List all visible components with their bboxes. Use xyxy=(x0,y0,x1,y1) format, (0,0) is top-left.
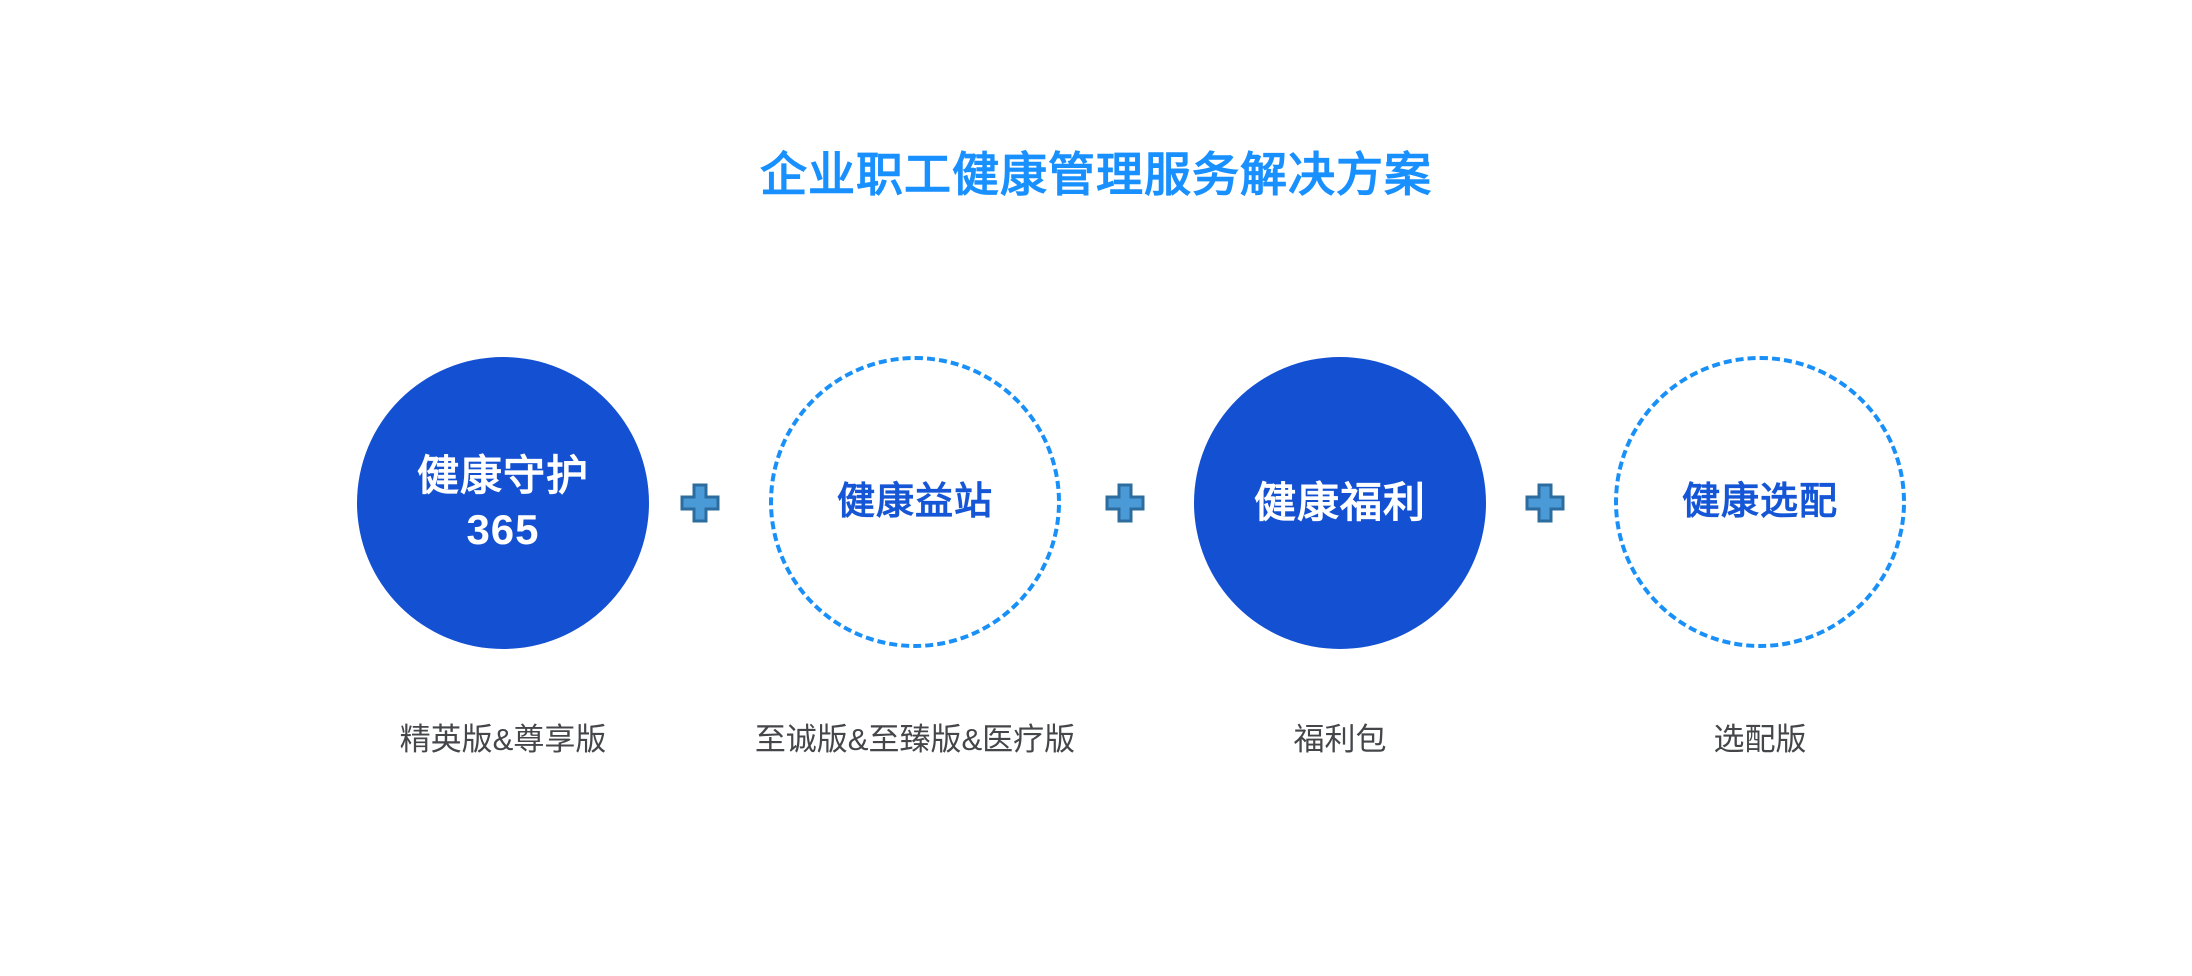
circle-node-label: 健康福利 xyxy=(1254,476,1426,530)
solution-flow-diagram: 健康守护 365 健康益站 健康福利 xyxy=(0,0,2192,976)
caption-health-welfare: 福利包 xyxy=(1140,718,1540,762)
slide-canvas: 企业职工健康管理服务解决方案 健康守护 365 健康益站 健康福利 xyxy=(0,0,2192,976)
caption-health-guard-365: 精英版&尊享版 xyxy=(303,718,703,762)
plus-icon-2 xyxy=(1104,482,1146,524)
circle-node-label: 健康选配 xyxy=(1682,475,1838,529)
circle-node-health-welfare[interactable]: 健康福利 xyxy=(1194,357,1486,649)
plus-icon-1 xyxy=(679,482,721,524)
circle-node-health-guard-365[interactable]: 健康守护 365 xyxy=(357,357,649,649)
caption-health-optional: 选配版 xyxy=(1560,718,1960,762)
circle-node-health-benefit-station[interactable]: 健康益站 xyxy=(769,356,1061,648)
caption-health-benefit-station: 至诚版&至臻版&医疗版 xyxy=(690,718,1140,762)
circle-node-label: 健康守护 365 xyxy=(417,449,589,557)
circle-node-label: 健康益站 xyxy=(837,475,993,529)
circle-node-health-optional[interactable]: 健康选配 xyxy=(1614,356,1906,648)
plus-icon-3 xyxy=(1524,482,1566,524)
